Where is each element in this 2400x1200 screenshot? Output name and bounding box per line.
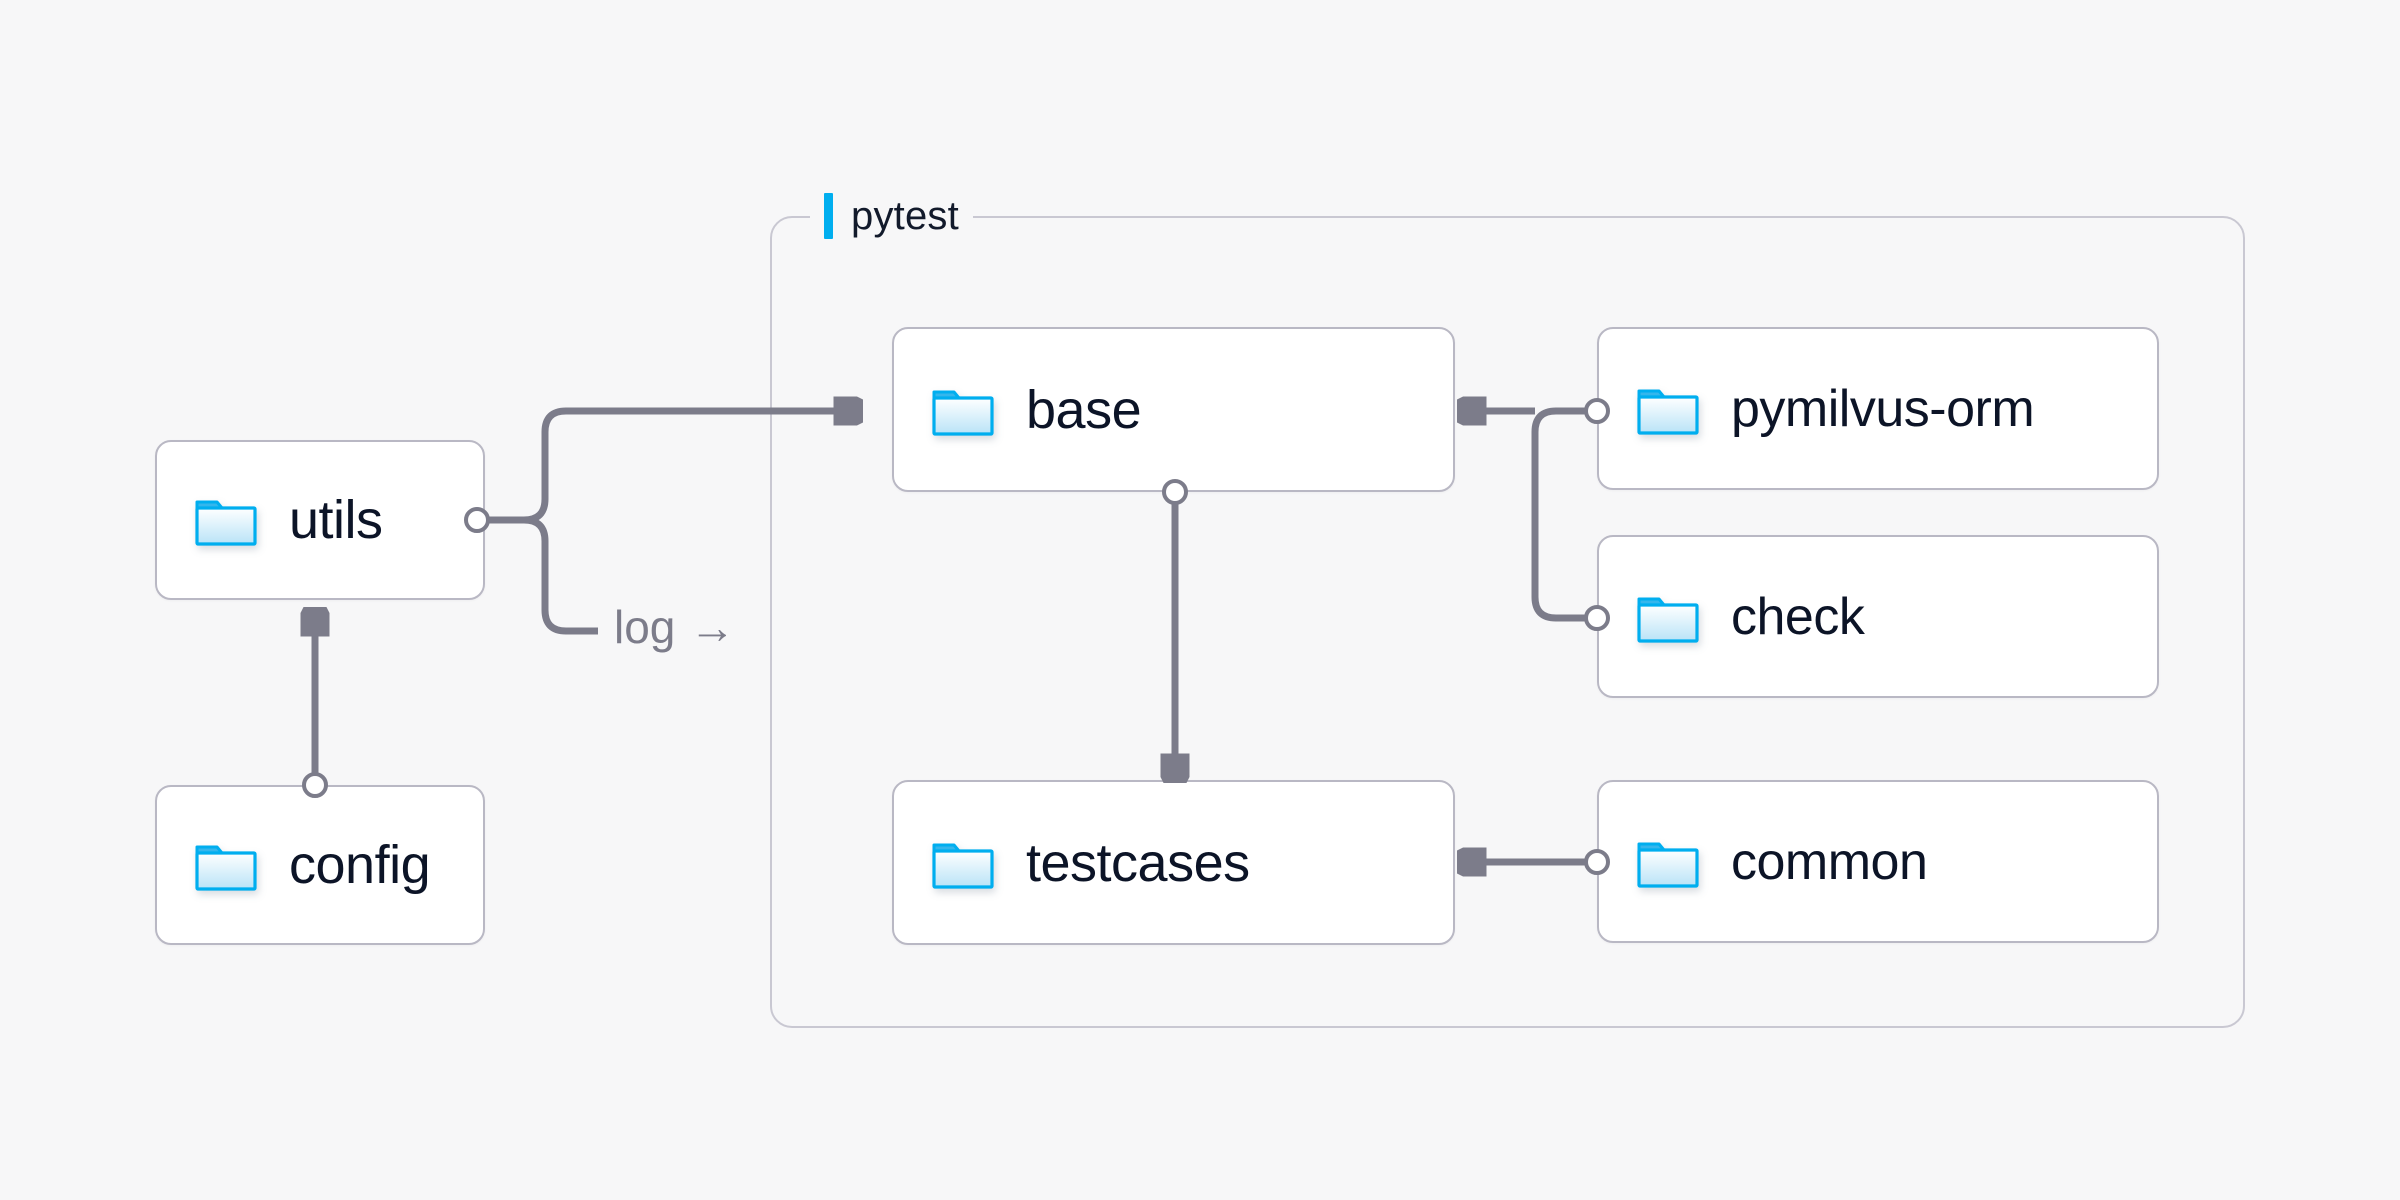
group-title: pytest [851,196,959,236]
node-base-label: base [1026,383,1141,437]
diagram-canvas: pytest log → [0,0,2400,1200]
edge-label-log-text: log [614,604,675,650]
handle-pymilvus-orm-left[interactable] [1584,398,1610,424]
edge-label-log: log → [598,604,751,650]
node-common-label: common [1731,836,1927,888]
node-check[interactable]: check [1597,535,2159,698]
handle-check-left[interactable] [1584,605,1610,631]
folder-icon [932,837,994,889]
folder-icon [1637,591,1699,643]
node-common[interactable]: common [1597,780,2159,943]
folder-icon [1637,383,1699,435]
folder-icon [1637,836,1699,888]
node-utils-label: utils [289,493,383,547]
node-pymilvus-orm[interactable]: pymilvus-orm [1597,327,2159,490]
handle-utils-right[interactable] [464,507,490,533]
group-accent-bar [824,193,833,239]
node-pymilvus-orm-label: pymilvus-orm [1731,383,2034,435]
handle-base-bottom[interactable] [1162,479,1188,505]
group-pytest-label: pytest [810,193,973,239]
arrow-right-icon: → [689,604,735,650]
handle-config-top[interactable] [302,772,328,798]
folder-icon [195,839,257,891]
node-utils[interactable]: utils [155,440,485,600]
node-check-label: check [1731,591,1864,643]
node-testcases[interactable]: testcases [892,780,1455,945]
node-base[interactable]: base [892,327,1455,492]
node-testcases-label: testcases [1026,836,1250,890]
handle-common-left[interactable] [1584,849,1610,875]
edge-utils-log-stub [489,520,600,631]
folder-icon [195,494,257,546]
node-config-label: config [289,838,430,892]
folder-icon [932,384,994,436]
node-config[interactable]: config [155,785,485,945]
